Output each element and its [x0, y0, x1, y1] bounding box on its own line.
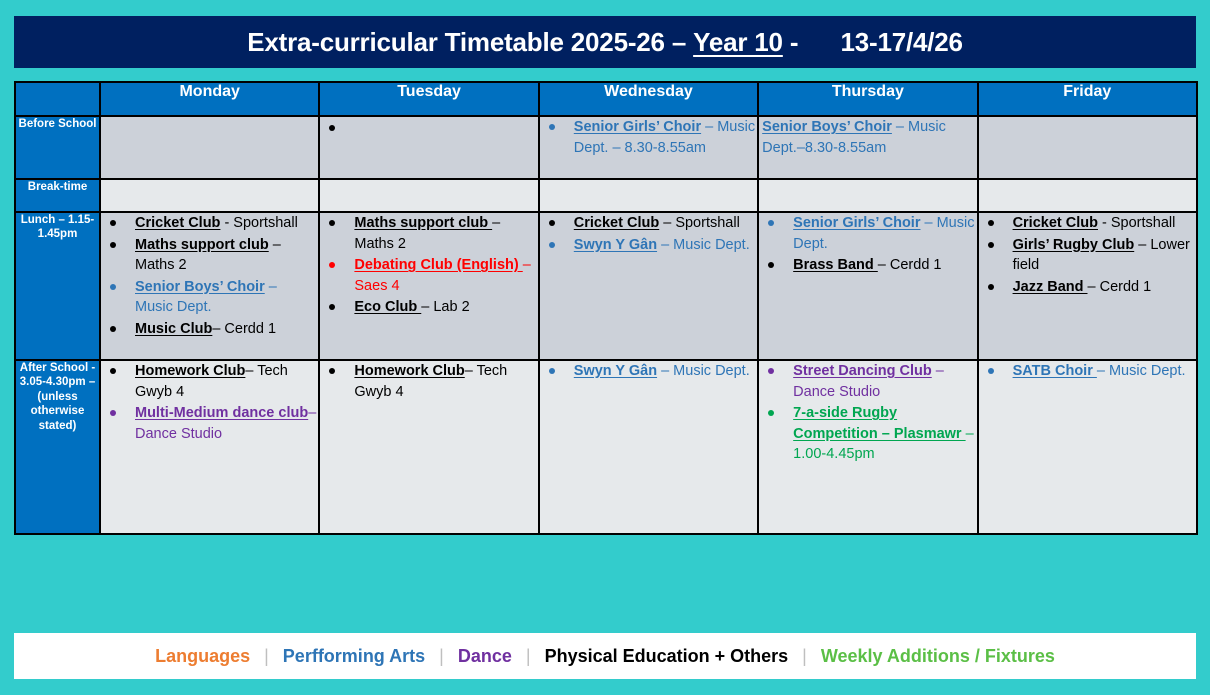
header-corner-cell: [15, 82, 100, 116]
activity-location: - Sportshall: [1098, 215, 1175, 231]
activity-item: Street Dancing Club – Dance Studio: [759, 361, 976, 402]
activity-item: Cricket Club - Sportshall: [101, 213, 318, 234]
cell-lunch-friday: Cricket Club - SportshallGirls’ Rugby Cl…: [978, 212, 1197, 360]
title-date-range: 13-17/4/26: [805, 27, 962, 58]
activity-location: – Music Dept.: [657, 237, 750, 253]
day-header-tuesday: Tuesday: [319, 82, 538, 116]
activity-location: - Sportshall: [220, 215, 297, 231]
cell-break-time-wednesday: [539, 179, 758, 212]
cell-lunch-monday: Cricket Club - SportshallMaths support c…: [100, 212, 319, 360]
activity-name: Senior Boys’ Choir: [135, 279, 265, 295]
table-row-after-school: After School - 3.05-4.30pm – (unless oth…: [15, 360, 1197, 534]
timetable-page: Extra-curricular Timetable 2025-26 – Yea…: [0, 0, 1210, 695]
activity-list: Homework Club– Tech Gwyb 4: [320, 361, 537, 402]
activity-item: Swyn Y Gân – Music Dept.: [540, 235, 757, 256]
activity-item: Multi-Medium dance club– Dance Studio: [101, 403, 318, 444]
table-row-before-school: Before School Senior Girls’ Choir – Musi…: [15, 116, 1197, 179]
legend-item-week: Weekly Additions / Fixtures: [807, 646, 1069, 667]
legend-item-pe: Physical Education + Others: [531, 646, 803, 667]
activity-name: Jazz Band: [1013, 279, 1088, 295]
activity-name: Street Dancing Club: [793, 363, 932, 379]
activity-list: Senior Girls’ Choir – Music Dept.Brass B…: [759, 213, 976, 276]
activity-name: Homework Club: [135, 363, 245, 379]
cell-before-school-friday: [978, 116, 1197, 179]
title-main-text: Extra-curricular Timetable 2025-26 –: [247, 27, 693, 58]
activity-item: 7-a-side Rugby Competition – Plasmawr – …: [759, 403, 976, 465]
bullet-icon: [768, 262, 774, 268]
table-row-lunch: Lunch – 1.15-1.45pm Cricket Club - Sport…: [15, 212, 1197, 360]
activity-name: Swyn Y Gân: [574, 237, 657, 253]
row-label-after-school: After School - 3.05-4.30pm – (unless oth…: [15, 360, 100, 534]
activity-name: Maths support club: [135, 237, 269, 253]
cell-lunch-wednesday: Cricket Club – SportshallSwyn Y Gân – Mu…: [539, 212, 758, 360]
activity-item: Senior Girls’ Choir – Music Dept. – 8.30…: [540, 117, 757, 158]
bullet-icon: [110, 326, 116, 332]
activity-name: Senior Girls’ Choir: [574, 119, 701, 135]
legend-item-lang: Languages: [141, 646, 264, 667]
activity-name: Cricket Club: [135, 215, 220, 231]
activity-item: Senior Boys’ Choir – Music Dept.–8.30-8.…: [759, 117, 976, 158]
table-header-row: Monday Tuesday Wednesday Thursday Friday: [15, 82, 1197, 116]
cell-after-school-thursday: Street Dancing Club – Dance Studio7-a-si…: [758, 360, 977, 534]
bullet-icon: [988, 220, 994, 226]
legend-item-dance: Dance: [444, 646, 526, 667]
bullet-icon: [110, 368, 116, 374]
activity-name: Girls’ Rugby Club: [1013, 237, 1135, 253]
activity-item: Senior Boys’ Choir – Music Dept.: [101, 277, 318, 318]
activity-item: Debating Club (English) – Saes 4: [320, 255, 537, 296]
activity-item: Jazz Band – Cerdd 1: [979, 277, 1196, 298]
day-header-monday: Monday: [100, 82, 319, 116]
activity-name: Debating Club (English): [354, 257, 522, 273]
category-legend: Languages|Perfforming Arts|Dance|Physica…: [14, 633, 1196, 679]
cell-after-school-friday: SATB Choir – Music Dept.: [978, 360, 1197, 534]
bullet-icon: [329, 125, 335, 131]
activity-list: Homework Club– Tech Gwyb 4Multi-Medium d…: [101, 361, 318, 444]
bullet-icon: [768, 220, 774, 226]
cell-before-school-tuesday: [319, 116, 538, 179]
activity-item: Maths support club – Maths 2: [320, 213, 537, 254]
bullet-icon: [549, 220, 555, 226]
cell-before-school-monday: [100, 116, 319, 179]
activity-item: Maths support club – Maths 2: [101, 235, 318, 276]
activity-item: Music Club– Cerdd 1: [101, 319, 318, 340]
activity-list: Swyn Y Gân – Music Dept.: [540, 361, 757, 382]
bullet-icon: [549, 368, 555, 374]
bullet-icon: [329, 304, 335, 310]
activity-name: Swyn Y Gân: [574, 363, 657, 379]
activity-list: SATB Choir – Music Dept.: [979, 361, 1196, 382]
activity-item: Cricket Club - Sportshall: [979, 213, 1196, 234]
activity-name: Brass Band: [793, 257, 878, 273]
bullet-icon: [549, 124, 555, 130]
bullet-icon: [329, 368, 335, 374]
row-label-before-school: Before School: [15, 116, 100, 179]
bullet-icon: [988, 284, 994, 290]
activity-location: – Music Dept.: [657, 363, 750, 379]
cell-break-time-monday: [100, 179, 319, 212]
activity-name: Multi-Medium dance club: [135, 405, 308, 421]
activity-name: Cricket Club: [1013, 215, 1098, 231]
activity-list: Maths support club – Maths 2Debating Clu…: [320, 213, 537, 318]
activity-item: Cricket Club – Sportshall: [540, 213, 757, 234]
cell-before-school-thursday: Senior Boys’ Choir – Music Dept.–8.30-8.…: [758, 116, 977, 179]
title-dash: -: [783, 27, 806, 58]
activity-list: Senior Girls’ Choir – Music Dept. – 8.30…: [540, 117, 757, 158]
activity-item: Eco Club – Lab 2: [320, 297, 537, 318]
activity-list: Senior Boys’ Choir – Music Dept.–8.30-8.…: [759, 117, 976, 158]
activity-name: Homework Club: [354, 363, 464, 379]
activity-list: Cricket Club - SportshallGirls’ Rugby Cl…: [979, 213, 1196, 297]
timetable: Monday Tuesday Wednesday Thursday Friday…: [14, 81, 1198, 535]
activity-item: Senior Girls’ Choir – Music Dept.: [759, 213, 976, 254]
activity-item: Brass Band – Cerdd 1: [759, 255, 976, 276]
bullet-icon: [768, 410, 774, 416]
activity-name: 7-a-side Rugby Competition – Plasmawr: [793, 405, 965, 442]
activity-list: Cricket Club – SportshallSwyn Y Gân – Mu…: [540, 213, 757, 255]
activity-location: – Cerdd 1: [878, 257, 942, 273]
day-header-wednesday: Wednesday: [539, 82, 758, 116]
bullet-icon: [110, 220, 116, 226]
bullet-icon: [110, 410, 116, 416]
cell-after-school-monday: Homework Club– Tech Gwyb 4Multi-Medium d…: [100, 360, 319, 534]
activity-item: Homework Club– Tech Gwyb 4: [320, 361, 537, 402]
row-label-break-time: Break-time: [15, 179, 100, 212]
activity-item: Girls’ Rugby Club – Lower field: [979, 235, 1196, 276]
bullet-icon: [988, 368, 994, 374]
cell-break-time-friday: [978, 179, 1197, 212]
activity-name: Eco Club: [354, 299, 421, 315]
activity-name: SATB Choir: [1013, 363, 1097, 379]
activity-name: Senior Girls’ Choir: [793, 215, 920, 231]
title-year-group: Year 10: [693, 27, 783, 58]
row-label-lunch: Lunch – 1.15-1.45pm: [15, 212, 100, 360]
activity-location: – Cerdd 1: [1088, 279, 1152, 295]
bullet-icon: [110, 284, 116, 290]
legend-item-perf: Perfforming Arts: [269, 646, 439, 667]
cell-after-school-tuesday: Homework Club– Tech Gwyb 4: [319, 360, 538, 534]
bullet-icon: [988, 242, 994, 248]
cell-break-time-tuesday: [319, 179, 538, 212]
bullet-icon: [329, 262, 335, 268]
activity-item: SATB Choir – Music Dept.: [979, 361, 1196, 382]
bullet-icon: [768, 368, 774, 374]
activity-name: Cricket Club: [574, 215, 659, 231]
table-row-break-time: Break-time: [15, 179, 1197, 212]
activity-name: Senior Boys’ Choir: [762, 119, 892, 135]
activity-location: – Music Dept.: [1097, 363, 1186, 379]
cell-lunch-tuesday: Maths support club – Maths 2Debating Clu…: [319, 212, 538, 360]
cell-after-school-wednesday: Swyn Y Gân – Music Dept.: [539, 360, 758, 534]
activity-item: Swyn Y Gân – Music Dept.: [540, 361, 757, 382]
activity-list: Cricket Club - SportshallMaths support c…: [101, 213, 318, 339]
activity-name: Maths support club: [354, 215, 492, 231]
bullet-icon: [549, 242, 555, 248]
cell-before-school-wednesday: Senior Girls’ Choir – Music Dept. – 8.30…: [539, 116, 758, 179]
day-header-friday: Friday: [978, 82, 1197, 116]
page-title: Extra-curricular Timetable 2025-26 – Yea…: [14, 16, 1196, 68]
day-header-thursday: Thursday: [758, 82, 977, 116]
bullet-icon: [110, 242, 116, 248]
activity-name: Music Club: [135, 321, 212, 337]
activity-location: – Lab 2: [421, 299, 469, 315]
activity-item: Homework Club– Tech Gwyb 4: [101, 361, 318, 402]
activity-list: Street Dancing Club – Dance Studio7-a-si…: [759, 361, 976, 465]
activity-location: – Cerdd 1: [212, 321, 276, 337]
activity-location: – Sportshall: [659, 215, 740, 231]
cell-break-time-thursday: [758, 179, 977, 212]
bullet-icon: [329, 220, 335, 226]
cell-lunch-thursday: Senior Girls’ Choir – Music Dept.Brass B…: [758, 212, 977, 360]
